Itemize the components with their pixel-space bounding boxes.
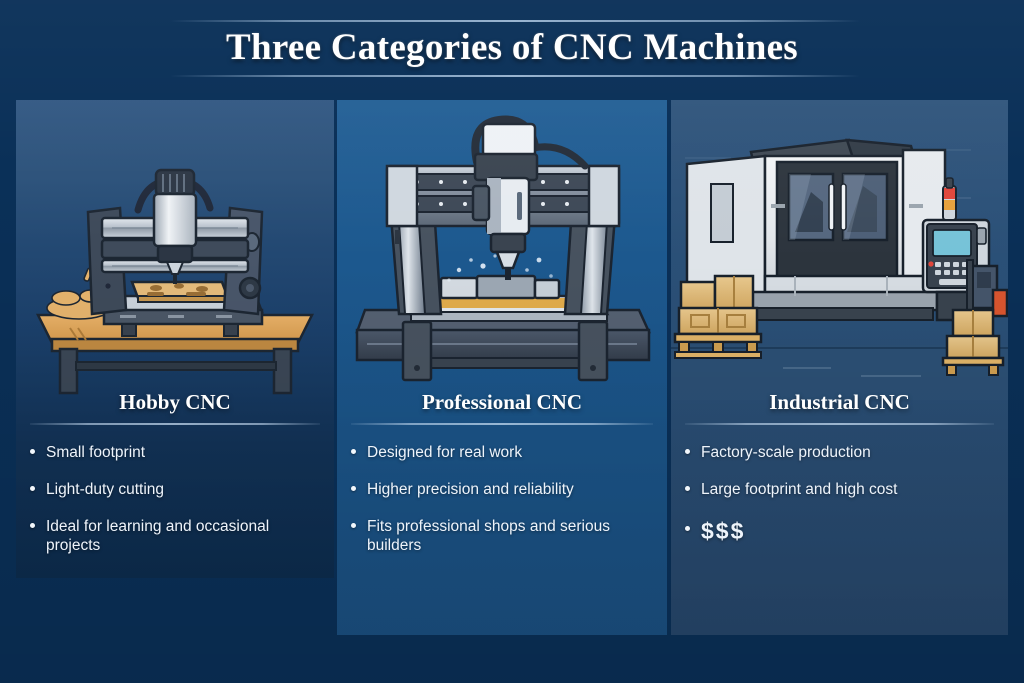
bullet-dot-icon xyxy=(685,526,690,531)
column-heading-divider xyxy=(685,423,994,425)
bullet-text: Light-duty cutting xyxy=(46,481,164,498)
bullet-dot-icon xyxy=(351,523,356,528)
column-heading-industrial: Industrial CNC xyxy=(671,390,1008,421)
column-text-industrial: Industrial CNC Factory-scale production … xyxy=(671,390,1008,563)
list-item: Fits professional shops and serious buil… xyxy=(367,517,651,557)
professional-cnc-mill-illustration xyxy=(337,100,667,400)
bullet-text: Factory-scale production xyxy=(701,444,871,461)
list-item: Designed for real work xyxy=(367,443,651,463)
bullet-text: Large footprint and high cost xyxy=(701,481,897,498)
bullet-dot-icon xyxy=(685,449,690,454)
bullet-dot-icon xyxy=(30,486,35,491)
forklift xyxy=(967,260,1007,316)
list-item: Small footprint xyxy=(46,443,318,463)
pallet-boxes-right xyxy=(943,310,1003,375)
list-item-price: $$$ xyxy=(701,517,992,546)
list-item: Ideal for learning and occasional projec… xyxy=(46,517,318,557)
title-area: Three Categories of CNC Machines xyxy=(0,0,1024,100)
industrial-cnc-machining-center-illustration xyxy=(671,100,1008,400)
bullet-text: Ideal for learning and occasional projec… xyxy=(46,518,269,555)
column-heading-divider xyxy=(30,423,320,425)
column-heading-hobby: Hobby CNC xyxy=(16,390,334,421)
column-text-professional: Professional CNC Designed for real work … xyxy=(337,390,667,573)
title-divider-top xyxy=(170,20,860,22)
bullet-dot-icon xyxy=(351,486,356,491)
bullet-dot-icon xyxy=(30,449,35,454)
page-title: Three Categories of CNC Machines xyxy=(0,26,1024,69)
bullet-dot-icon xyxy=(685,486,690,491)
wood-table xyxy=(38,315,312,393)
bullet-text: Small footprint xyxy=(46,444,145,461)
column-heading-professional: Professional CNC xyxy=(337,390,667,421)
bullet-dot-icon xyxy=(30,523,35,528)
list-item: Factory-scale production xyxy=(701,443,992,463)
column-text-hobby: Hobby CNC Small footprint Light-duty cut… xyxy=(16,390,334,573)
list-item: Light-duty cutting xyxy=(46,480,318,500)
bullet-text: Fits professional shops and serious buil… xyxy=(367,518,610,555)
price-text: $$$ xyxy=(701,518,745,544)
workpiece xyxy=(132,282,228,302)
bullet-dot-icon xyxy=(351,449,356,454)
metal-workpiece xyxy=(441,276,559,298)
bullet-list-professional: Designed for real work Higher precision … xyxy=(337,443,667,556)
bullet-text: Designed for real work xyxy=(367,444,522,461)
list-item: Higher precision and reliability xyxy=(367,480,651,500)
bullet-list-hobby: Small footprint Light-duty cutting Ideal… xyxy=(16,443,334,556)
column-heading-divider xyxy=(351,423,653,425)
hobby-cnc-router-illustration xyxy=(16,100,334,400)
bullet-list-industrial: Factory-scale production Large footprint… xyxy=(671,443,1008,546)
pallet-boxes-left xyxy=(675,276,761,358)
title-divider-bottom xyxy=(170,75,860,77)
bullet-text: Higher precision and reliability xyxy=(367,481,574,498)
list-item: Large footprint and high cost xyxy=(701,480,992,500)
